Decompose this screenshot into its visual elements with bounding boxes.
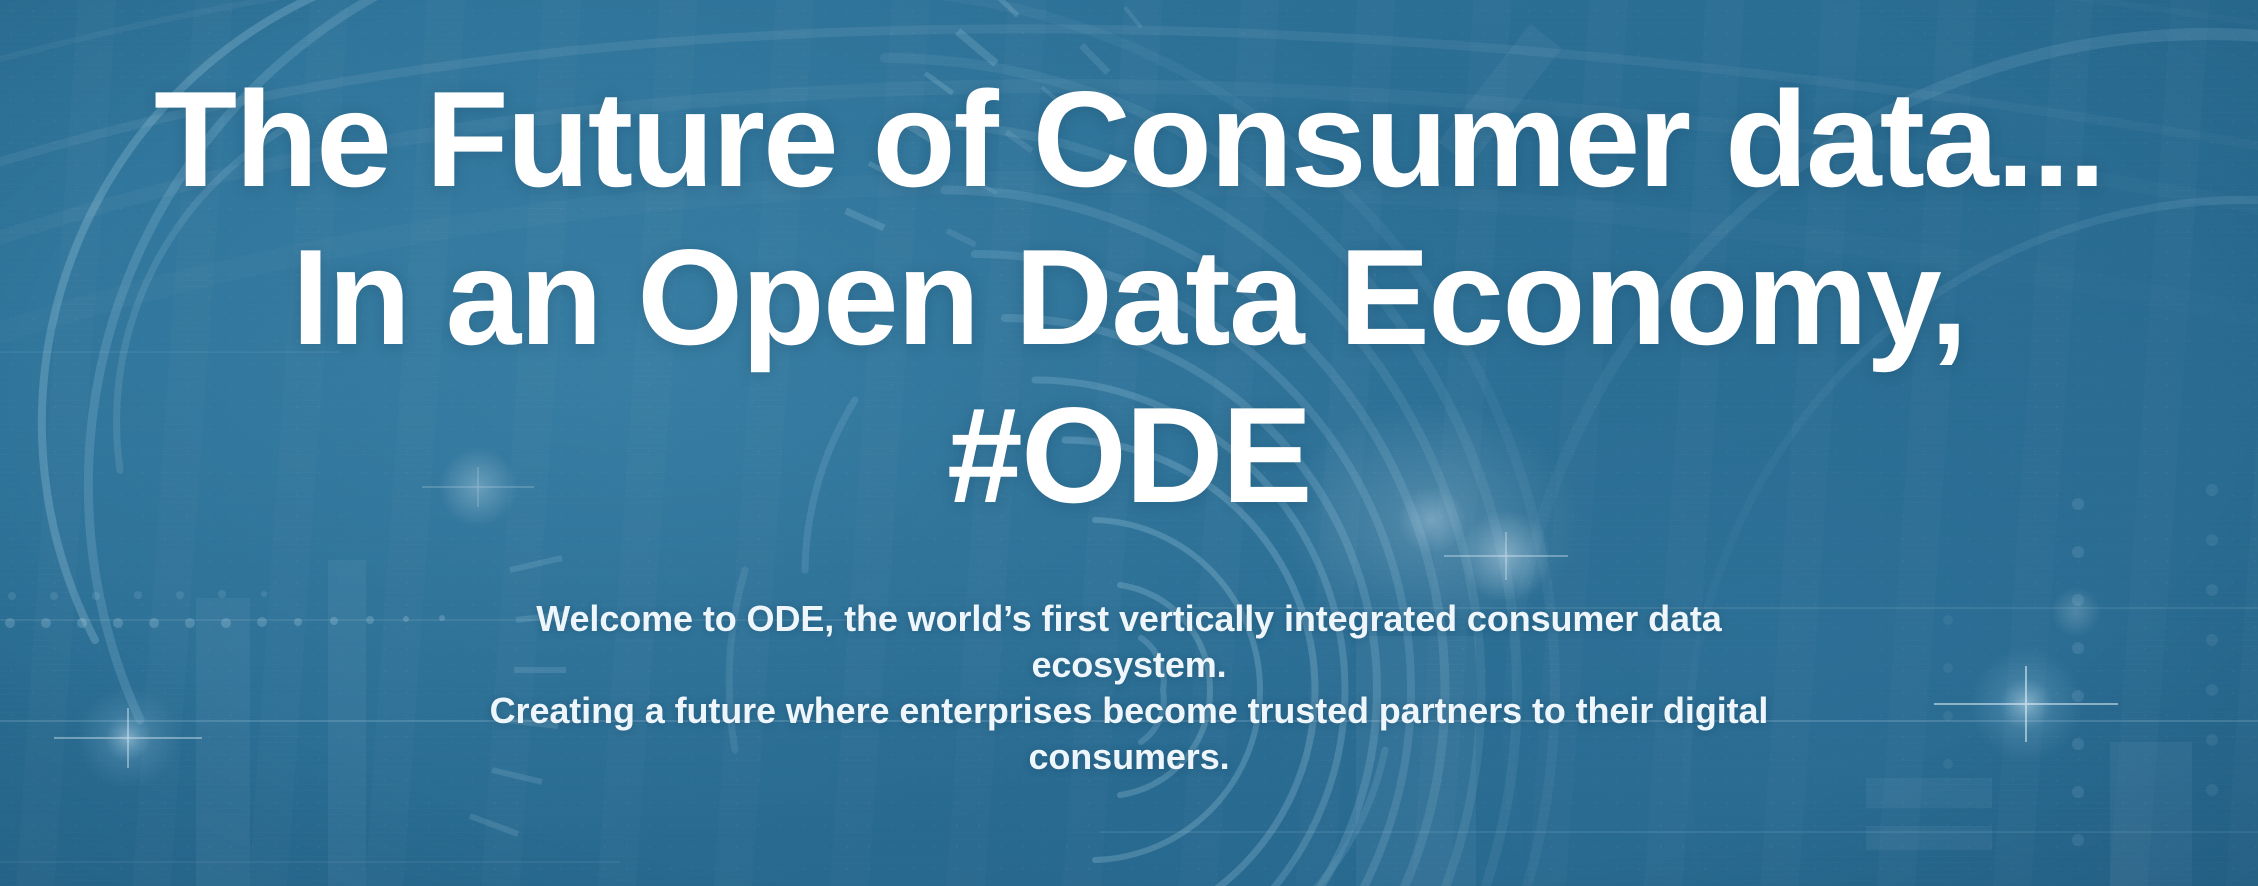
- headline-line-2: In an Open Data Economy,: [34, 218, 2224, 376]
- subheadline-line-2: Creating a future where enterprises beco…: [484, 688, 1774, 734]
- hero-subheadline: Welcome to ODE, the world’s first vertic…: [484, 596, 1774, 780]
- hero-headline: The Future of Consumer data... In an Ope…: [34, 60, 2224, 534]
- hero-banner: The Future of Consumer data... In an Ope…: [0, 0, 2258, 886]
- subheadline-line-1: Welcome to ODE, the world’s first vertic…: [484, 596, 1774, 688]
- headline-line-1: The Future of Consumer data...: [34, 60, 2224, 218]
- subheadline-line-3: consumers.: [484, 734, 1774, 780]
- hero-content: The Future of Consumer data... In an Ope…: [0, 0, 2258, 886]
- headline-line-3: #ODE: [34, 376, 2224, 534]
